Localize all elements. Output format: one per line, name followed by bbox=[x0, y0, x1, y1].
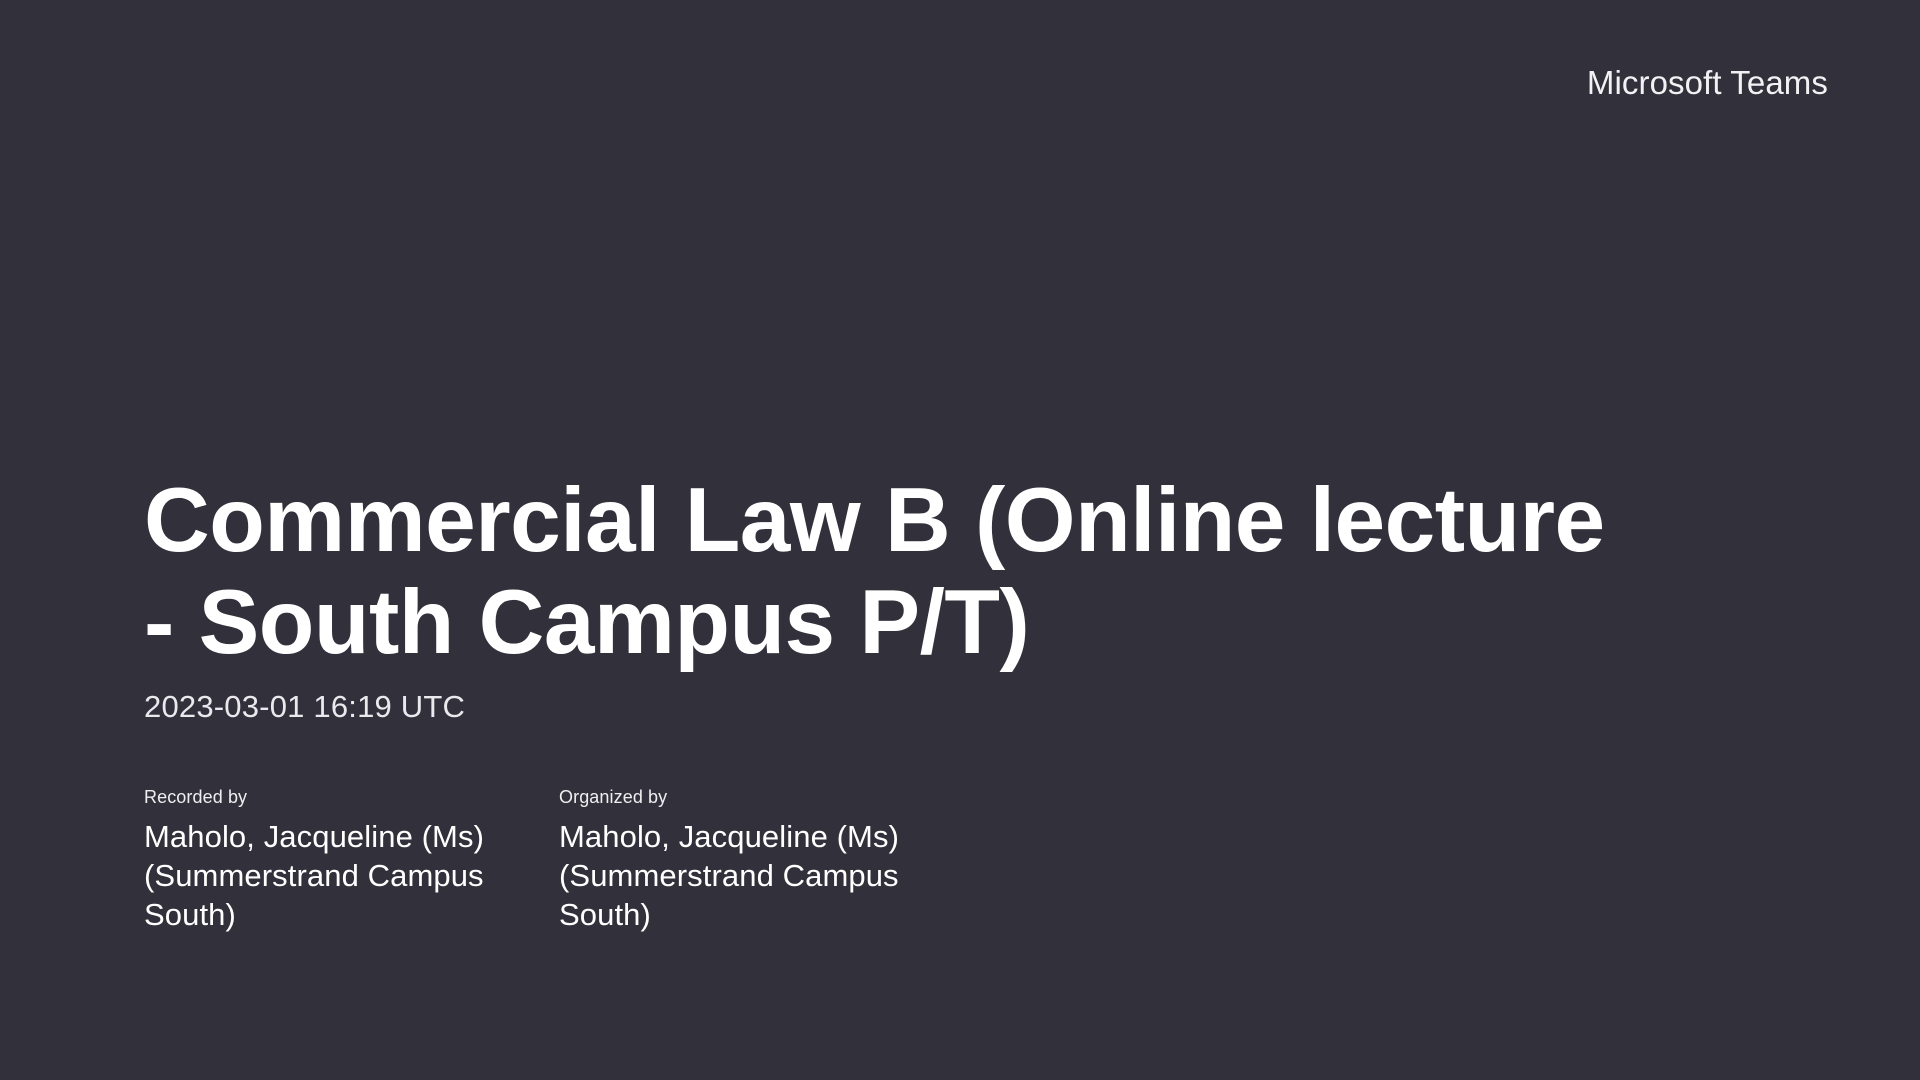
brand-bar: Microsoft Teams bbox=[0, 0, 1920, 150]
metadata-row: Recorded by Maholo, Jacqueline (Ms) (Sum… bbox=[144, 787, 1844, 935]
recording-title-card: Microsoft Teams Commercial Law B (Online… bbox=[0, 0, 1920, 1080]
microsoft-teams-brand-label: Microsoft Teams bbox=[1587, 66, 1828, 99]
organized-by-value: Maholo, Jacqueline (Ms) (Summerstrand Ca… bbox=[559, 817, 964, 935]
recorded-by-value: Maholo, Jacqueline (Ms) (Summerstrand Ca… bbox=[144, 817, 549, 935]
organized-by-label: Organized by bbox=[559, 787, 964, 809]
page-title: Commercial Law B (Online lecture - South… bbox=[144, 470, 1644, 674]
organized-by-column: Organized by Maholo, Jacqueline (Ms) (Su… bbox=[559, 787, 974, 935]
title-block: Commercial Law B (Online lecture - South… bbox=[144, 470, 1844, 935]
recorded-by-label: Recorded by bbox=[144, 787, 549, 809]
recording-timestamp: 2023-03-01 16:19 UTC bbox=[144, 688, 1844, 725]
recorded-by-column: Recorded by Maholo, Jacqueline (Ms) (Sum… bbox=[144, 787, 559, 935]
